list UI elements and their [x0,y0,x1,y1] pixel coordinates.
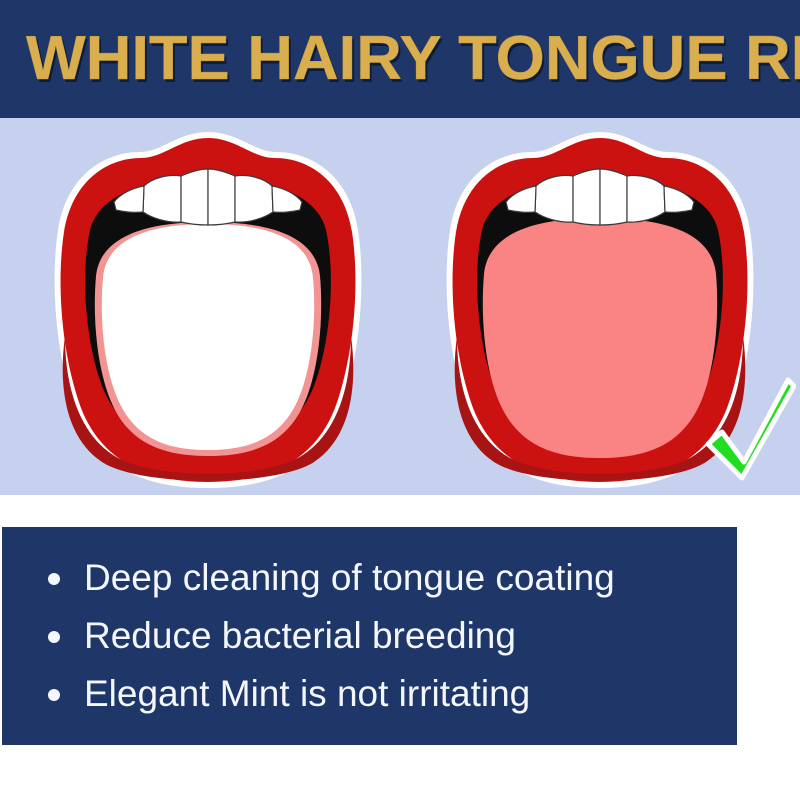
benefit-text: Deep cleaning of tongue coating [84,557,615,598]
benefit-text: Elegant Mint is not irritating [84,673,530,714]
list-item: Elegant Mint is not irritating [2,665,737,723]
check-icon-svg [700,366,796,482]
list-item: Deep cleaning of tongue coating [2,549,737,607]
page-title: WHITE HAIRY TONGUE REMOVAL KIT [26,22,800,96]
benefits-panel: Deep cleaning of tongue coating Reduce b… [2,527,737,745]
separator-gap [0,495,800,527]
mouth-illustration-before [48,126,368,494]
benefits-list: Deep cleaning of tongue coating Reduce b… [2,549,737,723]
bullet-icon [48,573,60,585]
illustration-band [0,118,800,495]
list-item: Reduce bacterial breeding [2,607,737,665]
bullet-icon [48,689,60,701]
header-banner: WHITE HAIRY TONGUE REMOVAL KIT [0,0,800,118]
check-mark-icon [700,366,796,482]
mouth-before-svg [48,126,368,494]
benefit-text: Reduce bacterial breeding [84,615,516,656]
tongue-after [483,218,717,458]
tongue-coating-before [102,224,314,450]
footer-space [0,745,800,800]
infographic-page: WHITE HAIRY TONGUE REMOVAL KIT [0,0,800,800]
bullet-icon [48,631,60,643]
